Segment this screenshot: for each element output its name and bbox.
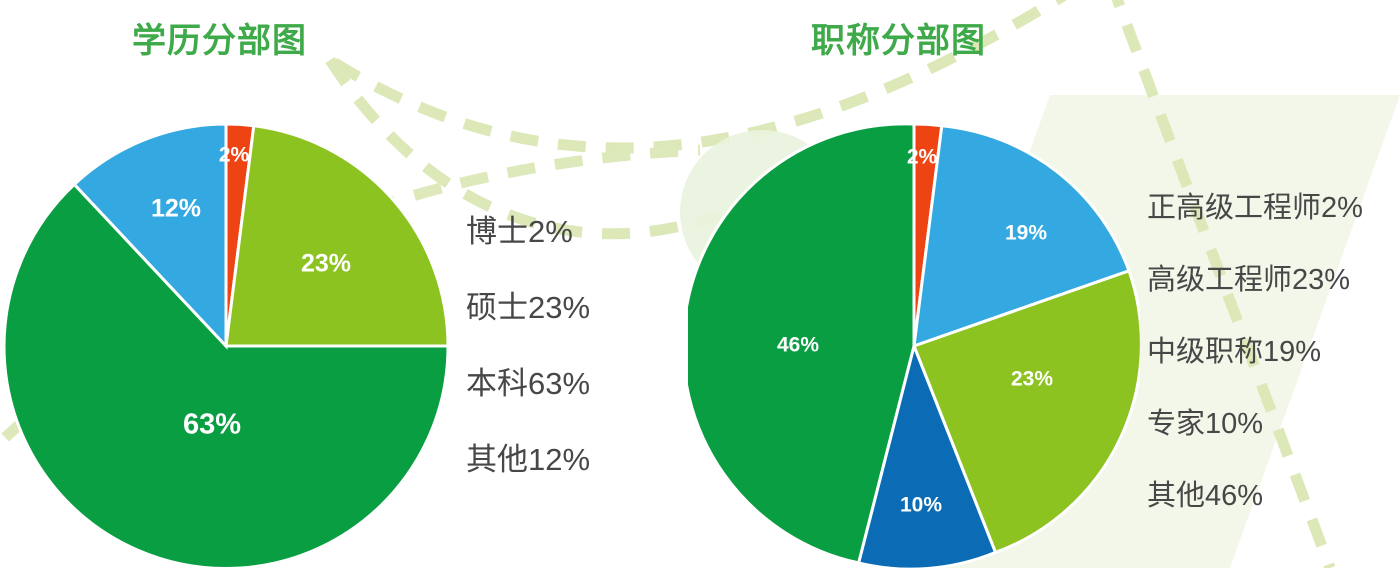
infographic-canvas: 学历分部图 2% 23% 63% 12% 博士2% 硕士23% 本科63% 其他… bbox=[0, 0, 1400, 568]
legend-item-mid-rank: 中级职称19% bbox=[1147, 328, 1363, 370]
legend-item-senior-engineer: 高级工程师23% bbox=[1147, 256, 1363, 298]
slice-label-bachelor: 63% bbox=[183, 409, 241, 441]
legend-item-senior-professor: 正高级工程师2% bbox=[1147, 184, 1363, 226]
legend-item-master: 硕士23% bbox=[466, 282, 590, 327]
pie-chart-rank: 2% 19% 23% 10% 46% bbox=[688, 120, 1140, 568]
legend-item-other-edu: 其他12% bbox=[466, 434, 590, 479]
slice-label-senior-engineer: 23% bbox=[1011, 368, 1053, 391]
slice-label-master: 23% bbox=[301, 250, 351, 278]
pie-chart-education: 2% 23% 63% 12% bbox=[0, 120, 452, 568]
legend-education: 博士2% 硕士23% 本科63% 其他12% bbox=[466, 206, 590, 510]
legend-rank: 正高级工程师2% 高级工程师23% 中级职称19% 专家10% 其他46% bbox=[1147, 184, 1363, 544]
pie-slice-master[interactable] bbox=[226, 126, 448, 346]
slice-label-other-edu: 12% bbox=[151, 195, 201, 223]
slice-label-senior-professor: 2% bbox=[907, 146, 938, 169]
legend-item-other-rank: 其他46% bbox=[1147, 472, 1363, 514]
slice-label-expert: 10% bbox=[900, 494, 942, 517]
legend-item-bachelor: 本科63% bbox=[466, 358, 590, 403]
slice-label-other-rank: 46% bbox=[777, 334, 819, 357]
legend-item-doctor: 博士2% bbox=[466, 206, 590, 251]
page-title-education: 学历分部图 bbox=[132, 13, 307, 62]
page-title-rank: 职称分部图 bbox=[811, 13, 986, 62]
legend-item-expert: 专家10% bbox=[1147, 400, 1363, 442]
slice-label-mid-rank: 19% bbox=[1005, 222, 1047, 245]
slice-label-doctor: 2% bbox=[219, 144, 250, 167]
